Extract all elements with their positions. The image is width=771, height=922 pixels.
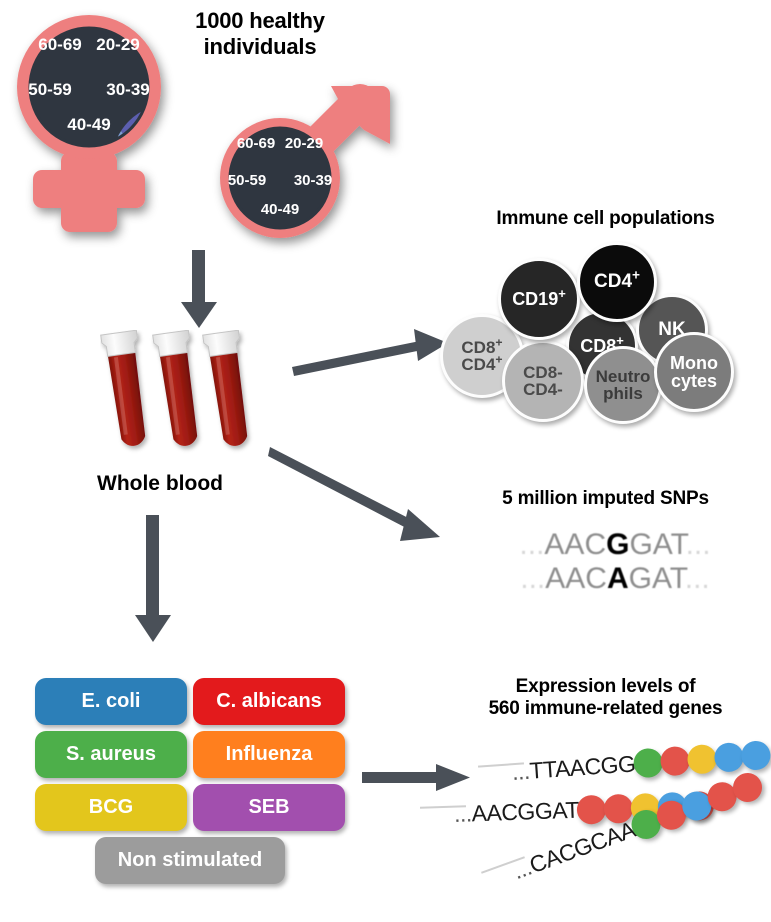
- arrow-to-snps: [268, 443, 448, 553]
- expression-chains-illustration: ...TTAACGG...AACGGAT...CACGCAA: [450, 718, 771, 918]
- pie-slice-label-40-49: 40-49: [67, 115, 110, 134]
- expression-chain: ...CACGCAA: [509, 769, 766, 886]
- snp-variant-base: A: [607, 562, 629, 595]
- snp-sequence-block: ...AACGGAT......AACAGAT...: [470, 528, 760, 596]
- gene-bead: [713, 742, 744, 773]
- blood-tubes-illustration: [100, 330, 270, 480]
- immune-cell-label: CD4+: [594, 272, 640, 291]
- pie-slice-label-50-59: 50-59: [228, 172, 266, 189]
- chain-sequence-text: ...TTAACGG: [511, 750, 636, 786]
- stimuli-grid: E. coliC. albicansS. aureusInfluenzaBCGS…: [35, 678, 345, 831]
- section-title-snps: 5 million imputed SNPs: [440, 488, 771, 510]
- snp-variant-base: G: [606, 528, 629, 561]
- immune-cell-bubble: CD8-CD4-: [502, 340, 584, 422]
- label-whole-blood: Whole blood: [60, 472, 260, 496]
- pie-slice-label-40-49: 40-49: [261, 201, 299, 218]
- female-symbol: 20-29 30-39 40-49 50-59 60-69: [8, 12, 188, 242]
- arrow-to-immune: [290, 325, 450, 385]
- stimuli-last-row: Non stimulated: [35, 831, 345, 884]
- section-title-expression: Expression levels of 560 immune-related …: [440, 676, 771, 721]
- gene-bead: [686, 744, 717, 775]
- pie-slice-label-20-29: 20-29: [285, 135, 323, 152]
- immune-cell-bubble: Monocytes: [654, 332, 734, 412]
- immune-cell-bubble: CD4+: [577, 242, 657, 322]
- snp-sequence-row: ...AACAGAT...: [470, 562, 760, 596]
- snp-sequence-row: ...AACGGAT...: [470, 528, 760, 562]
- pie-slice-label-30-39: 30-39: [106, 80, 149, 99]
- arrow-to-stimuli: [130, 515, 176, 645]
- stimulus-chip[interactable]: BCG: [35, 784, 187, 831]
- section-title-immune-cells: Immune cell populations: [440, 208, 771, 230]
- stimulus-chip[interactable]: E. coli: [35, 678, 187, 725]
- gene-bead: [659, 746, 690, 777]
- gene-bead: [740, 740, 771, 771]
- stimulus-chip[interactable]: SEB: [193, 784, 345, 831]
- immune-cell-bubble: CD19+: [498, 258, 580, 340]
- pie-slice-label-30-39: 30-39: [294, 172, 332, 189]
- immune-cell-label: Neutrophils: [596, 368, 651, 403]
- male-symbol: 20-29 30-39 40-49 50-59 60-69: [200, 78, 430, 258]
- immune-cell-bubble-chart: CD8+CD4+CD19+CD4+CD8+NKCD8-CD4-Neutrophi…: [440, 236, 771, 426]
- immune-cell-label: CD8+CD4+: [461, 339, 502, 374]
- immune-cell-label: Monocytes: [670, 354, 718, 391]
- immune-cell-label: CD19+: [512, 290, 566, 308]
- pie-slice-label-60-69: 60-69: [237, 135, 275, 152]
- chain-sequence-text: ...AACGGAT: [454, 797, 580, 828]
- chain-sequence-text: ...CACGCAA: [509, 816, 638, 885]
- pie-slice-label-20-29: 20-29: [96, 35, 139, 54]
- pie-slice-label-60-69: 60-69: [38, 35, 81, 54]
- stimulus-chip[interactable]: C. albicans: [193, 678, 345, 725]
- gene-bead: [576, 795, 606, 825]
- gene-bead: [632, 748, 663, 779]
- stimulus-chip[interactable]: S. aureus: [35, 731, 187, 778]
- stimuli-panel: E. coliC. albicansS. aureusInfluenzaBCGS…: [35, 678, 345, 884]
- pie-slice-label-50-59: 50-59: [28, 80, 71, 99]
- arrow-to-blood: [176, 250, 222, 330]
- stimulus-chip[interactable]: Influenza: [193, 731, 345, 778]
- immune-cell-bubble: Neutrophils: [584, 346, 662, 424]
- immune-cell-label: CD8-CD4-: [523, 364, 563, 399]
- stimulus-chip[interactable]: Non stimulated: [95, 837, 285, 884]
